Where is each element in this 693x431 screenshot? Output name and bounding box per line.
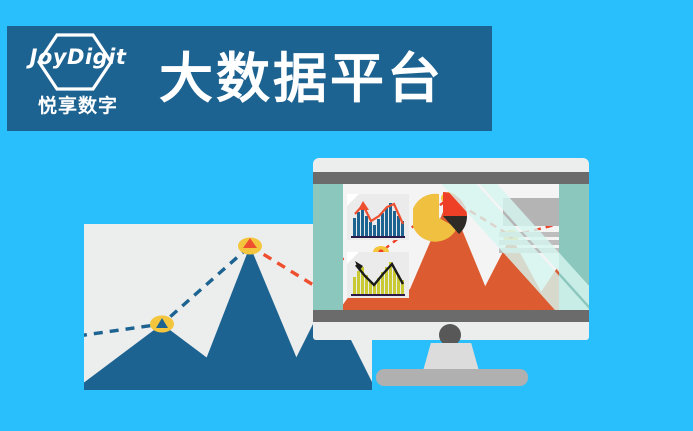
bar-line-chart-card-yellow — [347, 252, 409, 298]
header-bar: JoyDigit 悦享数字 大数据平台 — [7, 26, 492, 131]
pie-slice-red — [443, 192, 467, 216]
screen-right-band — [559, 184, 589, 310]
screen-left-band — [313, 184, 343, 310]
logo-wordmark: JoyDigit — [19, 45, 137, 69]
monitor — [313, 158, 589, 390]
monitor-bottom-bezel — [313, 310, 589, 322]
page-title: 大数据平台 — [159, 52, 444, 106]
logo-chinese-name: 悦享数字 — [19, 91, 137, 118]
monitor-stand-base — [376, 369, 528, 386]
text-line — [499, 240, 559, 245]
logo: JoyDigit 悦享数字 — [19, 31, 137, 126]
bar-line-chart-card-blue — [347, 194, 409, 240]
arrow-up-icon — [358, 201, 369, 210]
monitor-stand-neck — [423, 343, 479, 371]
axis-line — [351, 236, 405, 238]
text-line — [499, 248, 559, 253]
monitor-top-bezel — [313, 172, 589, 184]
axis-line — [351, 294, 405, 296]
banner-canvas: JoyDigit 悦享数字 大数据平台 — [0, 0, 693, 431]
pie-chart — [413, 190, 469, 246]
image-placeholder — [503, 198, 559, 226]
text-line — [499, 232, 559, 237]
monitor-power-button[interactable] — [439, 324, 461, 346]
monitor-screen — [313, 184, 589, 310]
